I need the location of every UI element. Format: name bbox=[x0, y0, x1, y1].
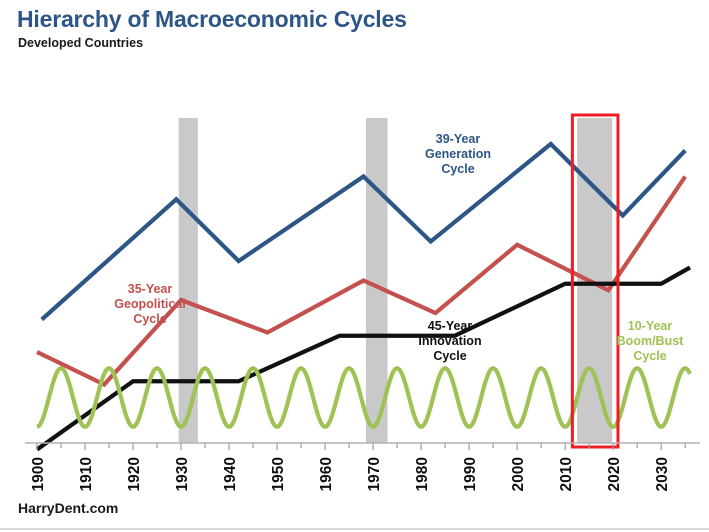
x-tick-label: 1950 bbox=[270, 457, 287, 491]
annotation-line: Cycle bbox=[633, 349, 666, 363]
x-tick-label: 1980 bbox=[414, 457, 431, 491]
x-tick-label: 1900 bbox=[30, 457, 47, 491]
annotation-line: Cycle bbox=[133, 312, 166, 326]
annotation-line: Geopolitical bbox=[114, 297, 186, 311]
x-tick-label: 2010 bbox=[558, 457, 575, 491]
annotation-generation: 39-YearGenerationCycle bbox=[425, 132, 491, 176]
source-attribution: HarryDent.com bbox=[18, 500, 118, 516]
annotation-line: Generation bbox=[425, 147, 491, 161]
annotation-line: 35-Year bbox=[128, 282, 173, 296]
x-tick-labels-group: 1900191019201930194019501960197019801990… bbox=[30, 457, 671, 491]
annotation-line: Cycle bbox=[441, 162, 474, 176]
annotation-line: Innovation bbox=[418, 334, 481, 348]
annotation-boom-bust: 10-YearBoom/BustCycle bbox=[617, 319, 685, 363]
annotation-line: Boom/Bust bbox=[617, 334, 685, 348]
x-tick-label: 2000 bbox=[510, 457, 527, 491]
x-tick-label: 1910 bbox=[78, 457, 95, 491]
x-tick-label: 2030 bbox=[654, 457, 671, 491]
annotation-innovation: 45-YearInnovationCycle bbox=[418, 319, 481, 363]
recession-band bbox=[577, 118, 612, 443]
x-tick-label: 1920 bbox=[126, 457, 143, 491]
annotation-line: 39-Year bbox=[436, 132, 481, 146]
x-tick-label: 1990 bbox=[462, 457, 479, 491]
x-tick-label: 1940 bbox=[222, 457, 239, 491]
annotation-line: 45-Year bbox=[428, 319, 473, 333]
annotation-geopolitical: 35-YearGeopoliticalCycle bbox=[114, 282, 186, 326]
macro-cycles-chart: 1900191019201930194019501960197019801990… bbox=[0, 0, 709, 532]
x-tick-label: 1970 bbox=[366, 457, 383, 491]
annotation-line: Cycle bbox=[433, 349, 466, 363]
x-tick-label: 2020 bbox=[606, 457, 623, 491]
bottom-divider bbox=[0, 528, 709, 530]
x-tick-label: 1960 bbox=[318, 457, 335, 491]
chart-page: Hierarchy of Macroeconomic Cycles Develo… bbox=[0, 0, 709, 532]
x-tick-label: 1930 bbox=[174, 457, 191, 491]
annotation-line: 10-Year bbox=[628, 319, 673, 333]
